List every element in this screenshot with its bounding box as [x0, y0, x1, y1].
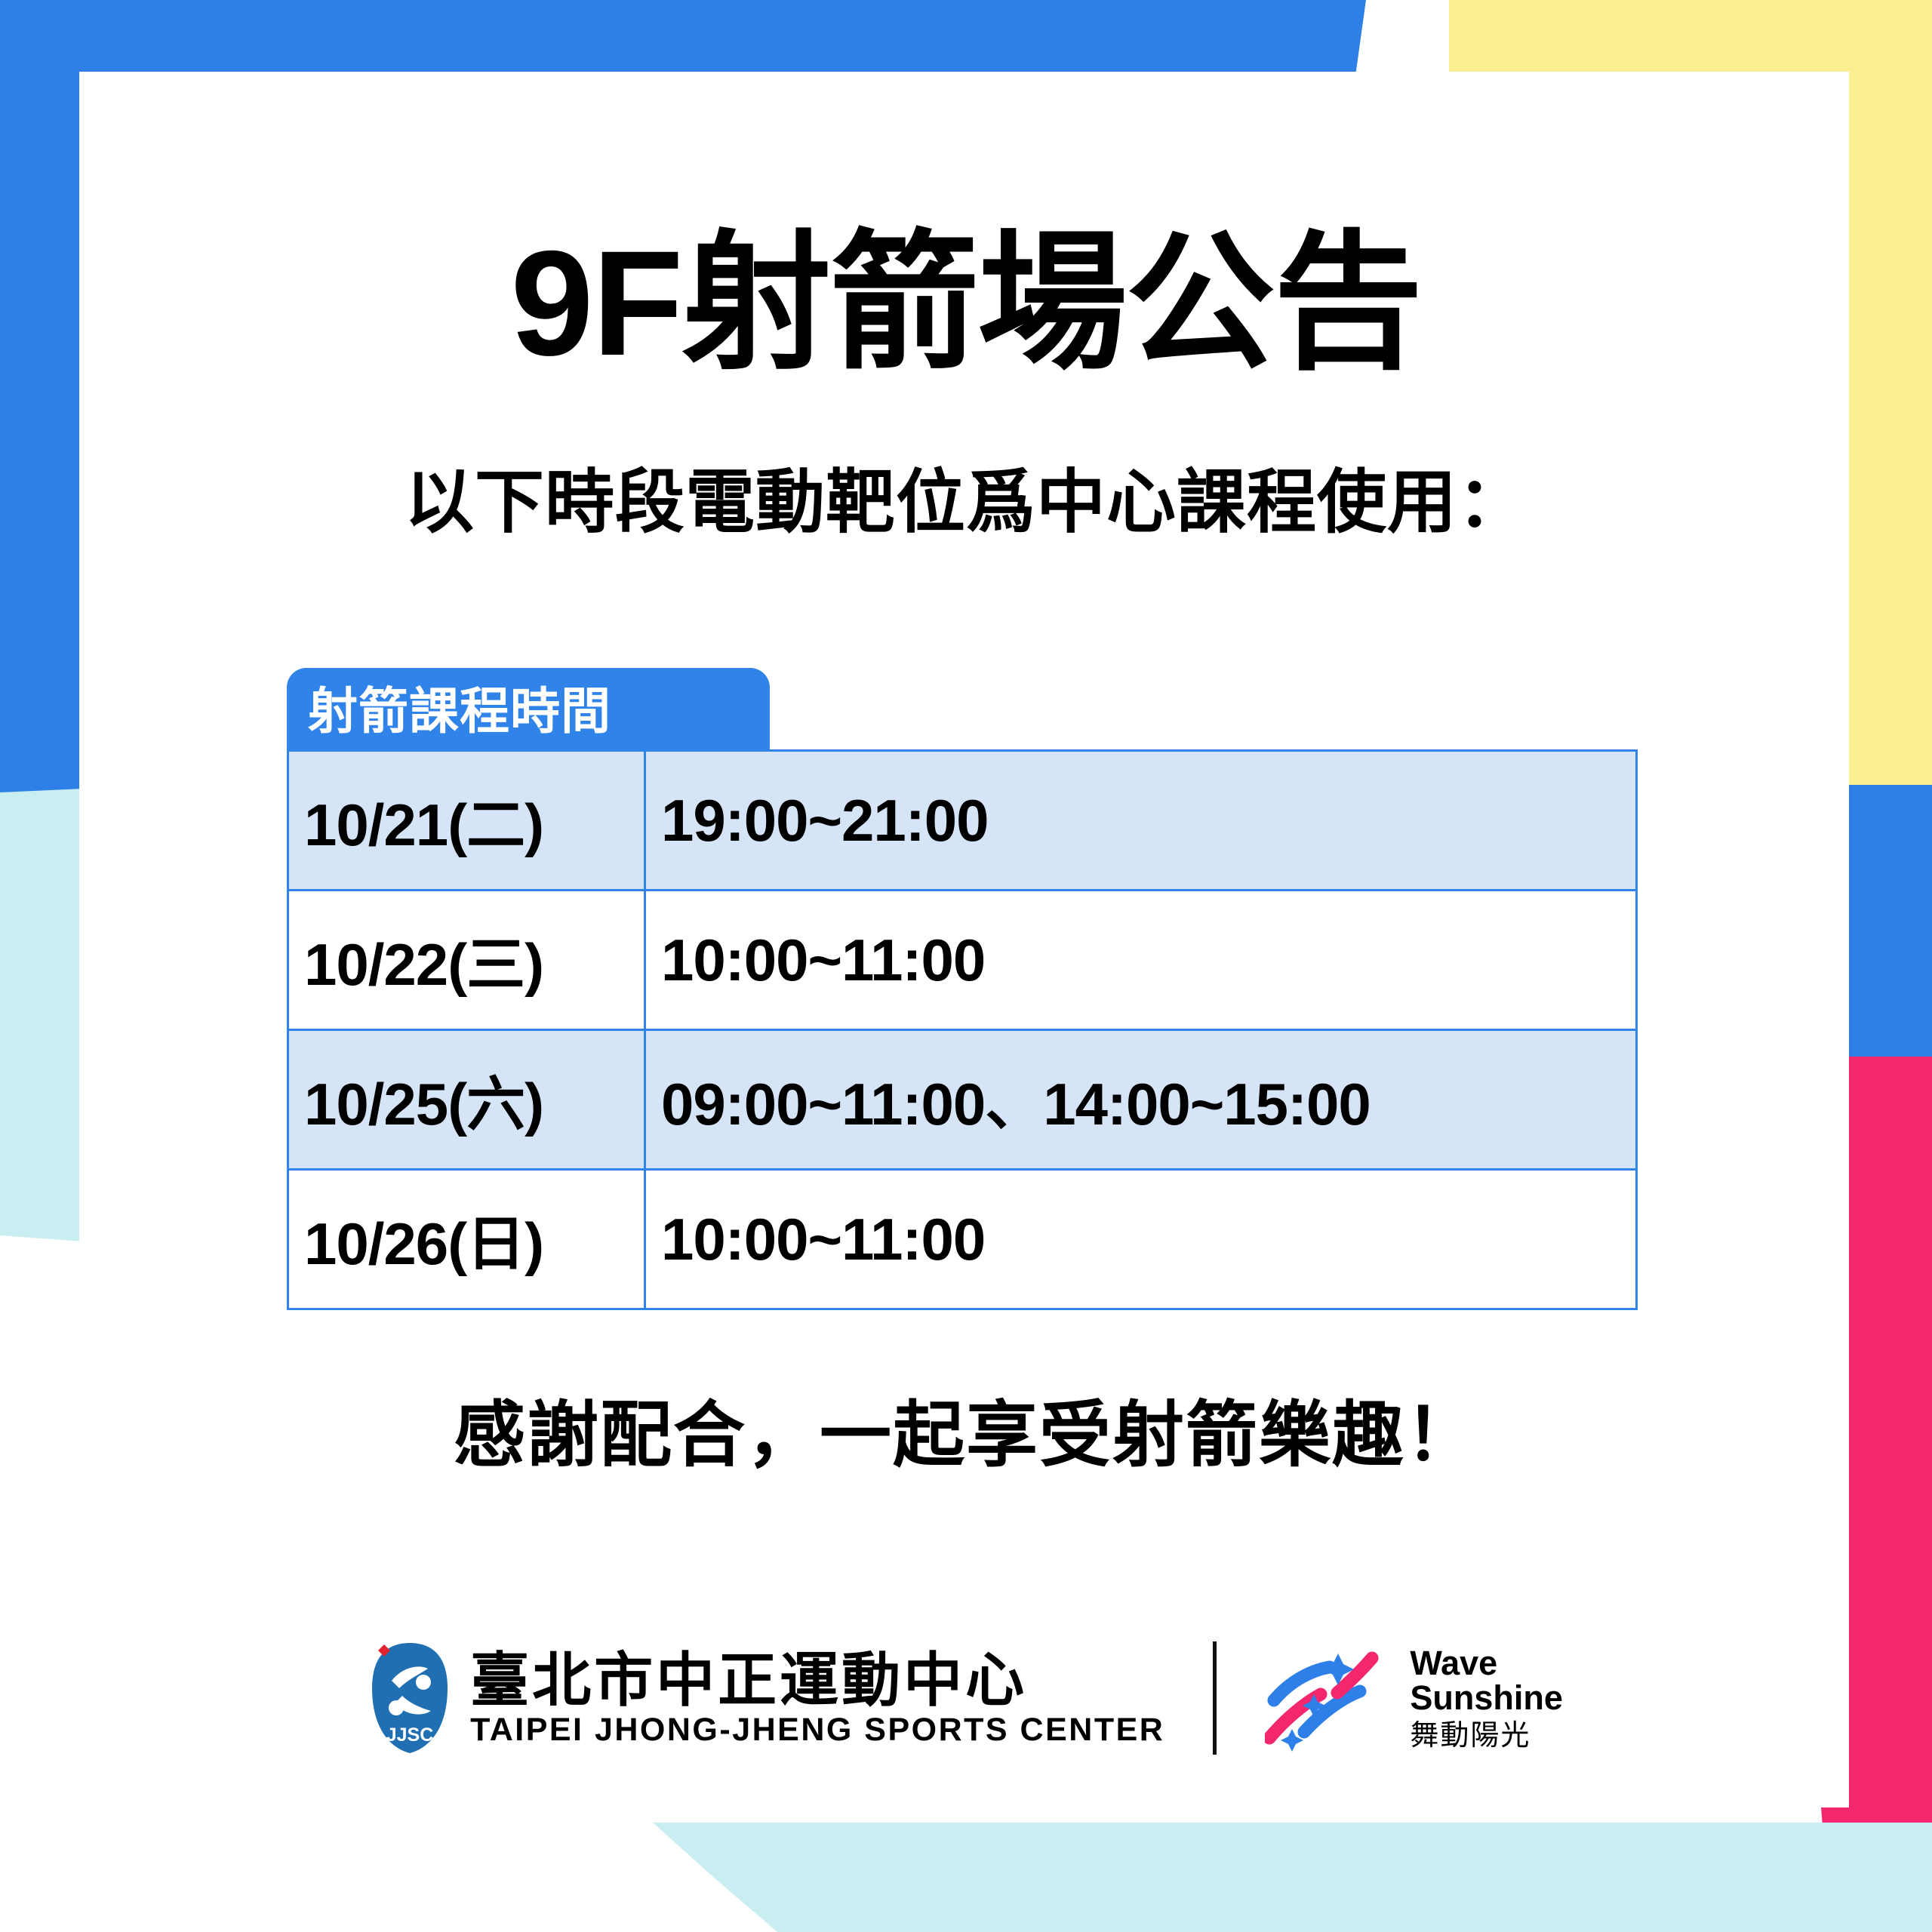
wave-strokes-icon: [1265, 1641, 1393, 1755]
logo-divider: [1213, 1641, 1217, 1755]
wave-line-2: Sunshine: [1410, 1681, 1563, 1715]
page-title: 9F射箭場公告: [0, 229, 1932, 378]
cell-date: 10/25(六): [288, 1030, 645, 1170]
decor-cyan-bottom-band: [638, 1823, 1932, 1932]
cell-date: 10/22(三): [288, 891, 645, 1030]
jjsc-shield-icon: JJSC: [369, 1641, 451, 1755]
jjsc-logo: JJSC 臺北市中正運動中心 TAIPEI JHONG-JHENG SPORTS…: [369, 1641, 1164, 1755]
cell-time: 10:00~11:00: [645, 1170, 1637, 1309]
table-row: 10/25(六) 09:00~11:00、14:00~15:00: [288, 1030, 1637, 1170]
table-row: 10/26(日) 10:00~11:00: [288, 1170, 1637, 1309]
poster-canvas: 9F射箭場公告 以下時段電動靶位爲中心課程使用： 射箭課程時間 10/21(二)…: [0, 0, 1932, 1932]
cell-time: 10:00~11:00: [645, 891, 1637, 1030]
wave-line-1: Wave: [1410, 1646, 1563, 1681]
table-row: 10/22(三) 10:00~11:00: [288, 891, 1637, 1030]
cell-time: 09:00~11:00、14:00~15:00: [645, 1030, 1637, 1170]
cell-date: 10/26(日): [288, 1170, 645, 1309]
svg-text:JJSC: JJSC: [386, 1724, 434, 1746]
schedule-section: 射箭課程時間 10/21(二) 19:00~21:00 10/22(三) 10:…: [287, 668, 1638, 1310]
wave-name-cn: 舞動陽光: [1410, 1721, 1563, 1751]
table-row: 10/21(二) 19:00~21:00: [288, 751, 1637, 891]
jjsc-name-cn: 臺北市中正運動中心: [470, 1651, 1164, 1709]
closing-message: 感謝配合，一起享受射箭樂趣！: [0, 1400, 1932, 1472]
footer-logos: JJSC 臺北市中正運動中心 TAIPEI JHONG-JHENG SPORTS…: [0, 1611, 1932, 1785]
schedule-table: 10/21(二) 19:00~21:00 10/22(三) 10:00~11:0…: [287, 749, 1638, 1310]
jjsc-name-en: TAIPEI JHONG-JHENG SPORTS CENTER: [470, 1714, 1164, 1746]
cell-date: 10/21(二): [288, 751, 645, 891]
cell-time: 19:00~21:00: [645, 751, 1637, 891]
schedule-tab-label: 射箭課程時間: [287, 668, 770, 751]
jjsc-wordmark: 臺北市中正運動中心 TAIPEI JHONG-JHENG SPORTS CENT…: [470, 1651, 1164, 1746]
wave-sunshine-logo: Wave Sunshine 舞動陽光: [1265, 1641, 1563, 1755]
page-subtitle: 以下時段電動靶位爲中心課程使用：: [0, 468, 1932, 537]
decor-cyan-left-band: [0, 789, 83, 1241]
wave-wordmark: Wave Sunshine 舞動陽光: [1410, 1646, 1563, 1751]
